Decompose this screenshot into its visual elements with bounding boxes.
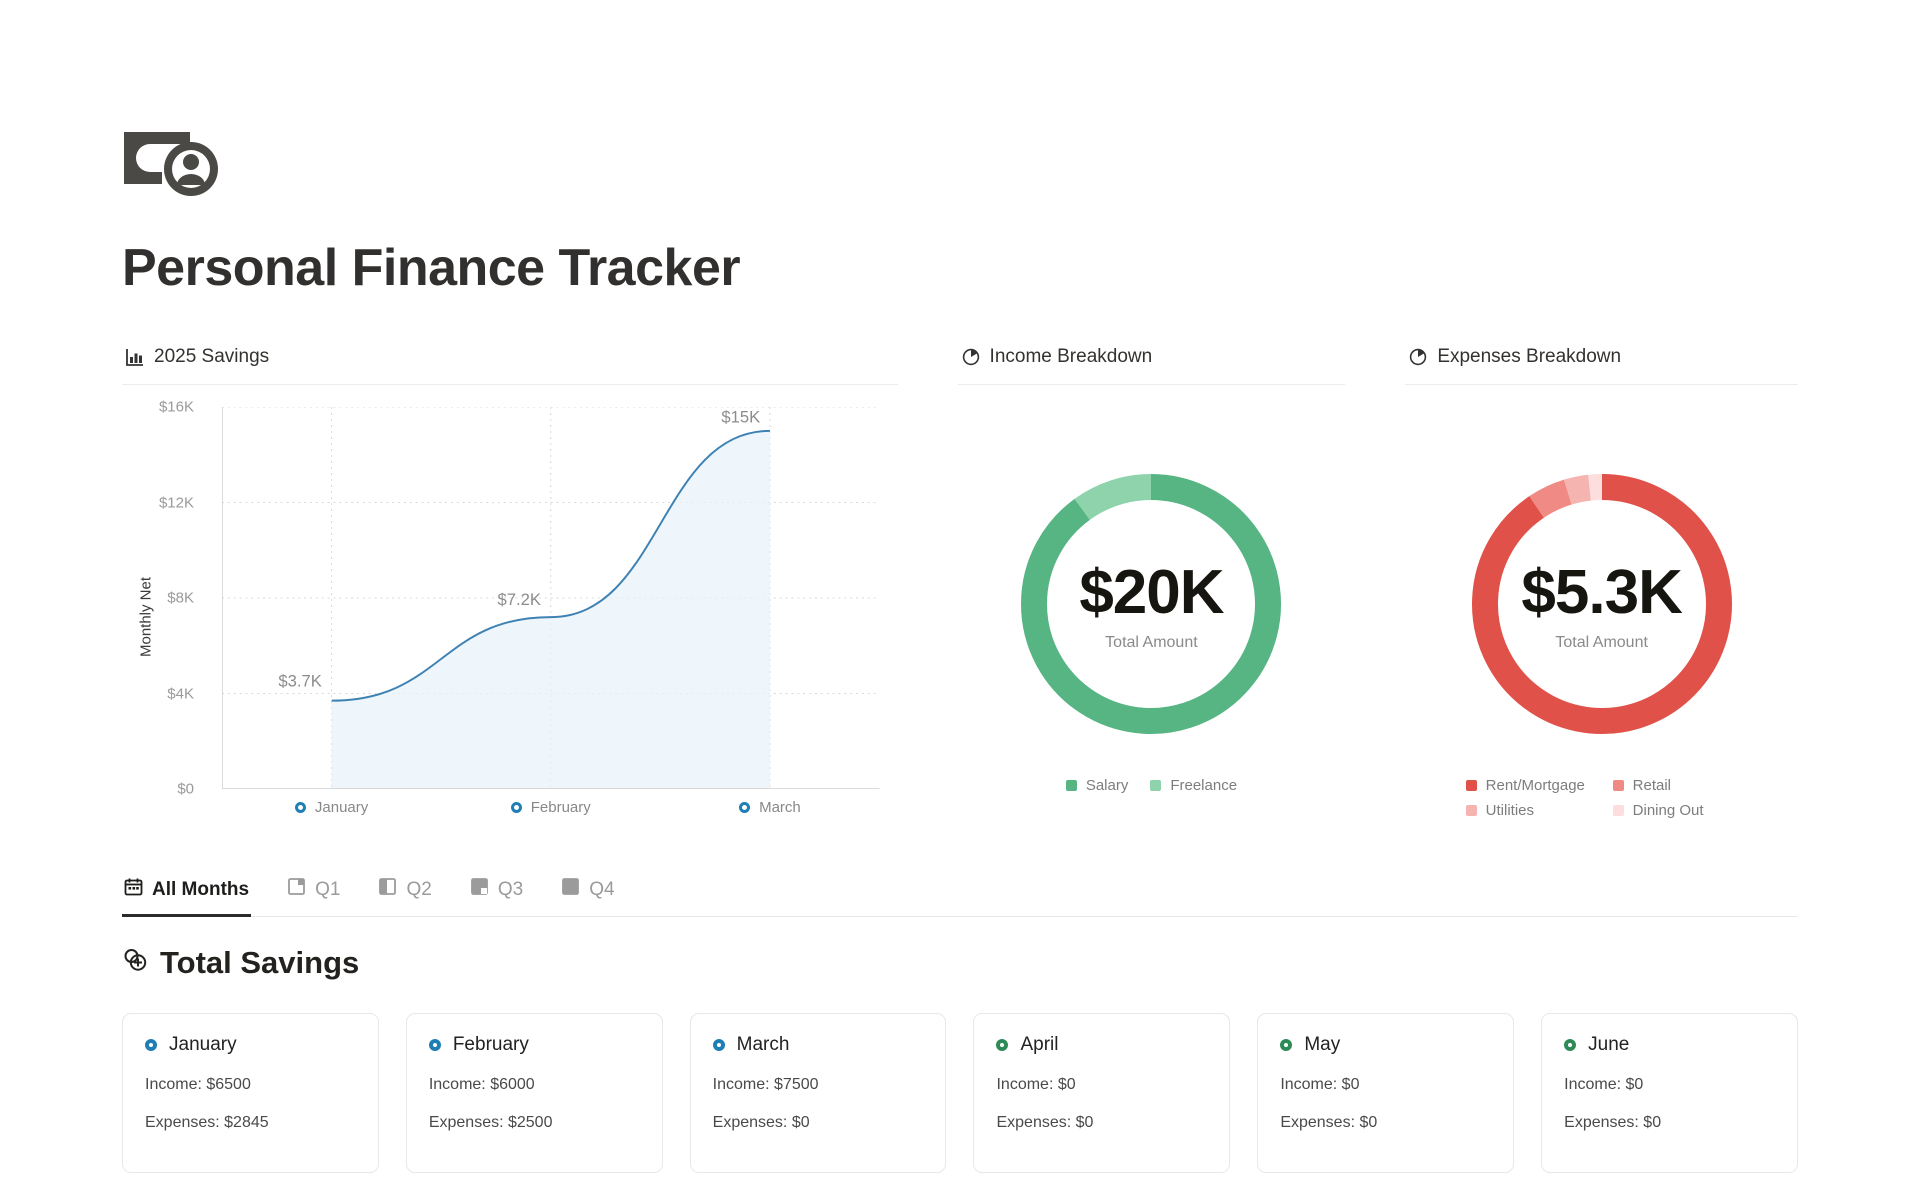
tab-all-months[interactable]: All Months: [122, 873, 251, 917]
month-income: Income: $0: [1564, 1076, 1775, 1094]
widget-expenses-title: Expenses Breakdown: [1437, 346, 1621, 368]
income-donut-center: $20K Total Amount: [1010, 463, 1292, 745]
widget-savings-header: 2025 Savings: [122, 346, 898, 385]
month-card-header: June: [1564, 1034, 1775, 1056]
money-person-icon: [122, 128, 226, 198]
legend-swatch-icon: [1466, 805, 1477, 816]
income-legend: SalaryFreelance: [1066, 777, 1237, 794]
status-dot-icon: [1280, 1039, 1292, 1051]
month-card[interactable]: April Income: $0 Expenses: $0: [973, 1013, 1230, 1173]
x-axis-ticks: JanuaryFebruaryMarch: [222, 799, 880, 816]
month-card-header: April: [996, 1034, 1207, 1056]
legend-swatch-icon: [1613, 780, 1624, 791]
legend-item[interactable]: Freelance: [1150, 777, 1237, 794]
square-three-quarter-icon: [470, 877, 489, 902]
status-dot-icon: [713, 1039, 725, 1051]
month-income: Income: $0: [1280, 1076, 1491, 1094]
expenses-legend: Rent/MortgageRetailUtilitiesDining Out: [1457, 777, 1747, 819]
widget-income: Income Breakdown $20K Total Amount Salar…: [958, 346, 1346, 837]
expenses-donut-area: $5.3K Total Amount Rent/MortgageRetailUt…: [1405, 407, 1798, 837]
marker-ring-icon: [511, 802, 522, 813]
legend-label: Rent/Mortgage: [1486, 777, 1585, 794]
tab-q4[interactable]: Q4: [559, 873, 616, 917]
month-card-header: January: [145, 1034, 356, 1056]
y-tick-label: $0: [122, 781, 208, 798]
period-tabs: All MonthsQ1Q2Q3Q4: [122, 873, 1798, 917]
month-expenses: Expenses: $2845: [145, 1114, 356, 1132]
month-name: March: [737, 1034, 790, 1056]
widget-expenses: Expenses Breakdown $5.3K Total Amount Re…: [1405, 346, 1798, 837]
savings-chart: Monthly Net $0$4K$8K$12K$16K $3.7K$7.2K$…: [122, 407, 898, 837]
total-savings-heading: Total Savings: [122, 945, 1798, 981]
svg-text:$3.7K: $3.7K: [278, 672, 321, 691]
page-title: Personal Finance Tracker: [122, 238, 1798, 298]
calendar-icon: [124, 877, 143, 902]
widgets-row: 2025 Savings Monthly Net $0$4K$8K$12K$16…: [122, 346, 1798, 837]
widget-income-title: Income Breakdown: [990, 346, 1153, 368]
y-axis-ticks: $0$4K$8K$12K$16K: [122, 407, 208, 789]
month-expenses: Expenses: $0: [713, 1114, 924, 1132]
x-tick-label: January: [315, 799, 368, 816]
tab-q1[interactable]: Q1: [285, 873, 342, 917]
tab-label: All Months: [152, 879, 249, 901]
status-dot-icon: [996, 1039, 1008, 1051]
month-name: January: [169, 1034, 237, 1056]
tab-label: Q3: [498, 879, 523, 901]
expenses-total-label: Total Amount: [1555, 634, 1648, 652]
widget-savings-title: 2025 Savings: [154, 346, 269, 368]
y-tick-label: $12K: [122, 494, 208, 511]
legend-swatch-icon: [1066, 780, 1077, 791]
tab-q2[interactable]: Q2: [376, 873, 433, 917]
month-card[interactable]: February Income: $6000 Expenses: $2500: [406, 1013, 663, 1173]
legend-label: Dining Out: [1633, 802, 1704, 819]
status-dot-icon: [145, 1039, 157, 1051]
month-expenses: Expenses: $2500: [429, 1114, 640, 1132]
month-expenses: Expenses: $0: [996, 1114, 1207, 1132]
y-tick-label: $4K: [122, 685, 208, 702]
pie-chart-icon: [962, 348, 980, 366]
coins-icon: [122, 945, 148, 981]
month-expenses: Expenses: $0: [1564, 1114, 1775, 1132]
legend-label: Salary: [1086, 777, 1129, 794]
y-tick-label: $16K: [122, 399, 208, 416]
tab-label: Q4: [589, 879, 614, 901]
tab-label: Q1: [315, 879, 340, 901]
income-donut-area: $20K Total Amount SalaryFreelance: [958, 407, 1346, 837]
x-tick-february: February: [441, 799, 660, 816]
expenses-donut-center: $5.3K Total Amount: [1461, 463, 1743, 745]
x-tick-january: January: [222, 799, 441, 816]
month-card[interactable]: May Income: $0 Expenses: $0: [1257, 1013, 1514, 1173]
month-cards: January Income: $6500 Expenses: $2845 Fe…: [122, 1013, 1798, 1173]
month-name: May: [1304, 1034, 1340, 1056]
expenses-donut: $5.3K Total Amount: [1461, 463, 1743, 745]
income-total-value: $20K: [1079, 557, 1223, 628]
legend-item[interactable]: Dining Out: [1613, 802, 1738, 819]
square-quarter-icon: [287, 877, 306, 902]
chart-plot-area: $3.7K$7.2K$15K: [222, 407, 880, 789]
x-tick-march: March: [660, 799, 879, 816]
month-card-header: February: [429, 1034, 640, 1056]
month-card-header: May: [1280, 1034, 1491, 1056]
svg-text:$7.2K: $7.2K: [498, 590, 541, 609]
month-name: April: [1020, 1034, 1058, 1056]
legend-swatch-icon: [1150, 780, 1161, 791]
status-dot-icon: [429, 1039, 441, 1051]
marker-ring-icon: [739, 802, 750, 813]
legend-label: Retail: [1633, 777, 1671, 794]
widget-savings: 2025 Savings Monthly Net $0$4K$8K$12K$16…: [122, 346, 898, 837]
month-card[interactable]: March Income: $7500 Expenses: $0: [690, 1013, 947, 1173]
legend-item[interactable]: Rent/Mortgage: [1466, 777, 1591, 794]
month-name: June: [1588, 1034, 1629, 1056]
pie-chart-icon: [1409, 348, 1427, 366]
y-tick-label: $8K: [122, 590, 208, 607]
tab-label: Q2: [406, 879, 431, 901]
x-tick-label: February: [531, 799, 591, 816]
widget-income-header: Income Breakdown: [958, 346, 1346, 385]
square-half-icon: [378, 877, 397, 902]
month-card-header: March: [713, 1034, 924, 1056]
square-full-icon: [561, 877, 580, 902]
legend-swatch-icon: [1466, 780, 1477, 791]
total-savings-title: Total Savings: [160, 945, 359, 981]
month-income: Income: $6500: [145, 1076, 356, 1094]
legend-item[interactable]: Retail: [1613, 777, 1738, 794]
month-card[interactable]: June Income: $0 Expenses: $0: [1541, 1013, 1798, 1173]
income-donut: $20K Total Amount: [1010, 463, 1292, 745]
legend-label: Freelance: [1170, 777, 1237, 794]
bar-chart-icon: [126, 348, 144, 366]
legend-item[interactable]: Salary: [1066, 777, 1129, 794]
legend-item[interactable]: Utilities: [1466, 802, 1591, 819]
legend-label: Utilities: [1486, 802, 1534, 819]
month-expenses: Expenses: $0: [1280, 1114, 1491, 1132]
dashboard-page: Personal Finance Tracker 2025 Savings Mo…: [0, 128, 1920, 1199]
tab-q3[interactable]: Q3: [468, 873, 525, 917]
month-card[interactable]: January Income: $6500 Expenses: $2845: [122, 1013, 379, 1173]
legend-swatch-icon: [1613, 805, 1624, 816]
svg-text:$15K: $15K: [721, 408, 760, 427]
expenses-total-value: $5.3K: [1521, 557, 1681, 628]
x-tick-label: March: [759, 799, 801, 816]
marker-ring-icon: [295, 802, 306, 813]
status-dot-icon: [1564, 1039, 1576, 1051]
income-total-label: Total Amount: [1105, 634, 1198, 652]
month-income: Income: $0: [996, 1076, 1207, 1094]
month-income: Income: $6000: [429, 1076, 640, 1094]
widget-expenses-header: Expenses Breakdown: [1405, 346, 1798, 385]
month-name: February: [453, 1034, 529, 1056]
month-income: Income: $7500: [713, 1076, 924, 1094]
